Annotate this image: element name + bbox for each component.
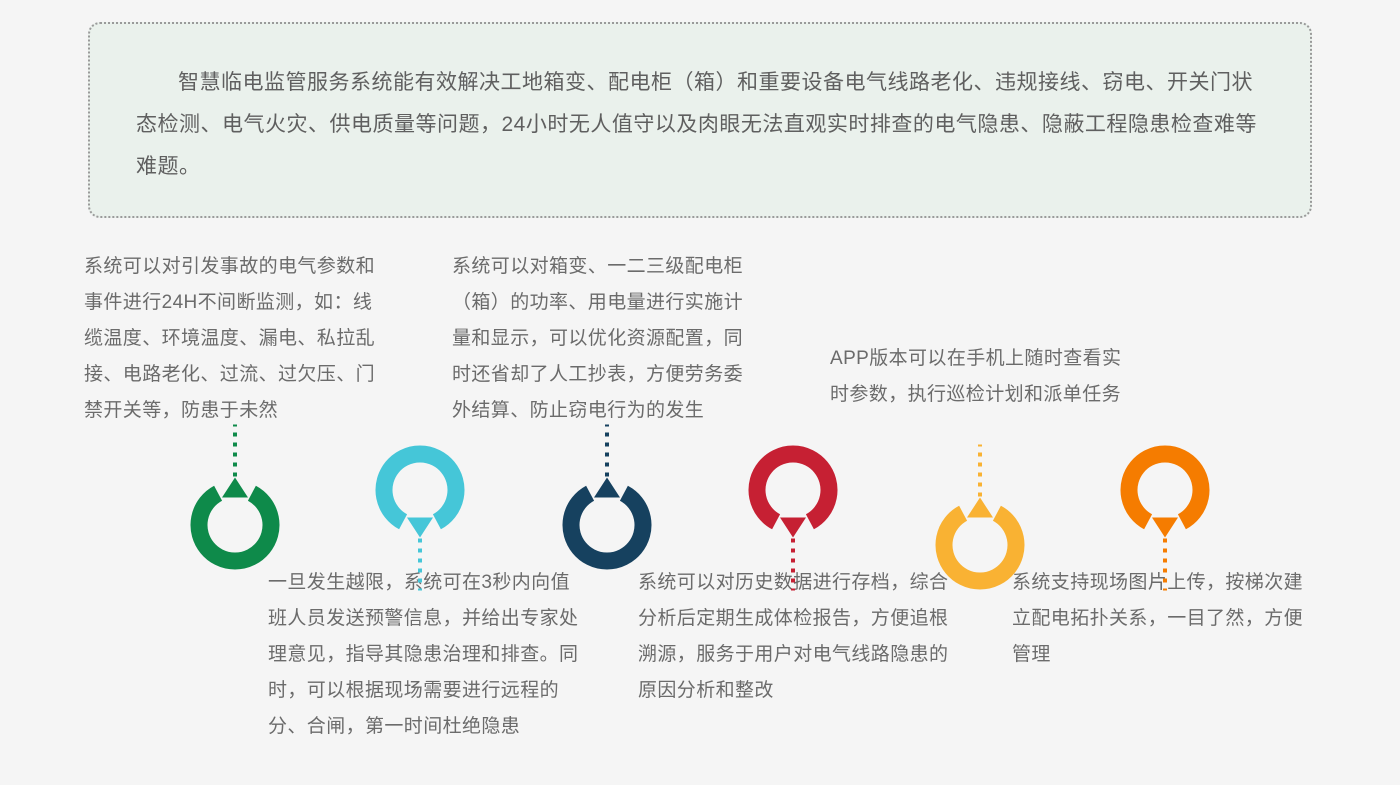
feature-caption-realtime-monitoring: 系统可以对引发事故的电气参数和事件进行24H不间断监测，如：线缆温度、环境温度、… (84, 249, 384, 429)
gauge-marker-down-red-icon (718, 432, 868, 592)
gauge-marker-up-navy-icon (532, 420, 682, 580)
intro-panel: 智慧临电监管服务系统能有效解决工地箱变、配电柜（箱）和重要设备电气线路老化、违规… (88, 22, 1312, 218)
feature-caption-alarm-dispatch: 一旦发生越限，系统可在3秒内向值班人员发送预警信息，并给出专家处理意见，指导其隐… (268, 565, 583, 745)
gauge-marker-up-amber-icon (905, 440, 1055, 600)
gauge-marker-down-cyan-icon (345, 432, 495, 592)
feature-caption-mobile-app: APP版本可以在手机上随时查看实时参数，执行巡检计划和派单任务 (830, 341, 1140, 413)
gauge-marker-down-orange-icon (1090, 432, 1240, 592)
intro-paragraph: 智慧临电监管服务系统能有效解决工地箱变、配电柜（箱）和重要设备电气线路老化、违规… (136, 62, 1264, 188)
feature-caption-power-metering: 系统可以对箱变、一二三级配电柜（箱）的功率、用电量进行实施计量和显示，可以优化资… (452, 249, 762, 429)
gauge-marker-up-green-icon (160, 420, 310, 580)
